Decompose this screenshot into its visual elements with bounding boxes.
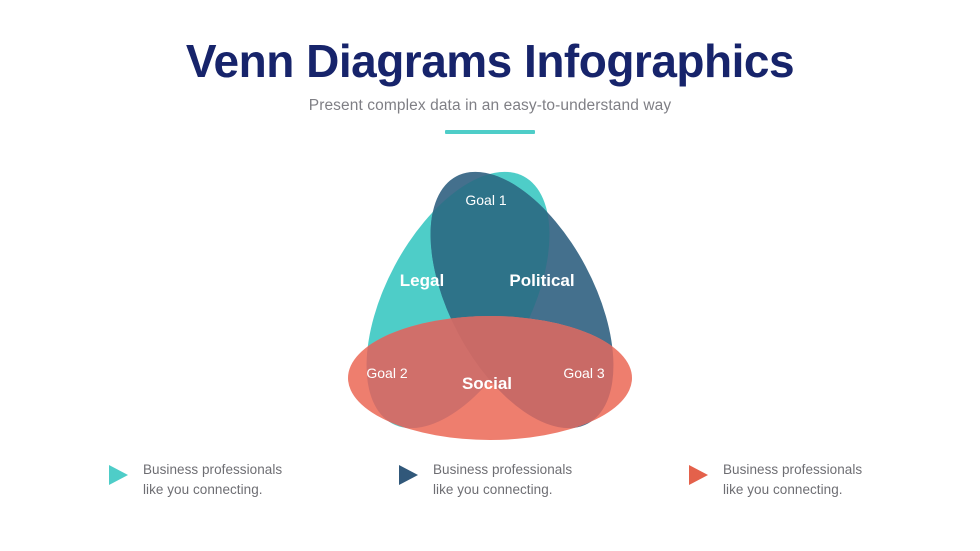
legend-item-2[interactable]: Business professionals like you connecti… bbox=[398, 460, 688, 499]
venn-label-political: Political bbox=[509, 271, 574, 290]
venn-label-goal-3: Goal 3 bbox=[563, 365, 604, 381]
legend-item-1-text: Business professionals like you connecti… bbox=[143, 460, 282, 499]
legend-item-1[interactable]: Business professionals like you connecti… bbox=[108, 460, 398, 499]
play-triangle-icon bbox=[398, 464, 420, 486]
slide-canvas: Venn Diagrams Infographics Present compl… bbox=[0, 0, 980, 551]
venn-label-social: Social bbox=[462, 374, 512, 393]
play-triangle-icon bbox=[108, 464, 130, 486]
venn-label-goal-1: Goal 1 bbox=[465, 192, 506, 208]
venn-label-goal-2: Goal 2 bbox=[366, 365, 407, 381]
accent-divider bbox=[445, 130, 535, 134]
venn-diagram-svg: Goal 1 Legal Political Goal 2 Social Goa… bbox=[330, 150, 650, 440]
page-subtitle: Present complex data in an easy-to-under… bbox=[0, 88, 980, 115]
venn-label-legal: Legal bbox=[400, 271, 444, 290]
page-title: Venn Diagrams Infographics bbox=[0, 0, 980, 88]
slide-header: Venn Diagrams Infographics Present compl… bbox=[0, 0, 980, 134]
legend-row: Business professionals like you connecti… bbox=[0, 460, 980, 499]
legend-item-3-text: Business professionals like you connecti… bbox=[723, 460, 862, 499]
play-triangle-icon bbox=[688, 464, 710, 486]
legend-item-3[interactable]: Business professionals like you connecti… bbox=[688, 460, 978, 499]
venn-diagram: Goal 1 Legal Political Goal 2 Social Goa… bbox=[330, 150, 650, 440]
legend-item-2-text: Business professionals like you connecti… bbox=[433, 460, 572, 499]
